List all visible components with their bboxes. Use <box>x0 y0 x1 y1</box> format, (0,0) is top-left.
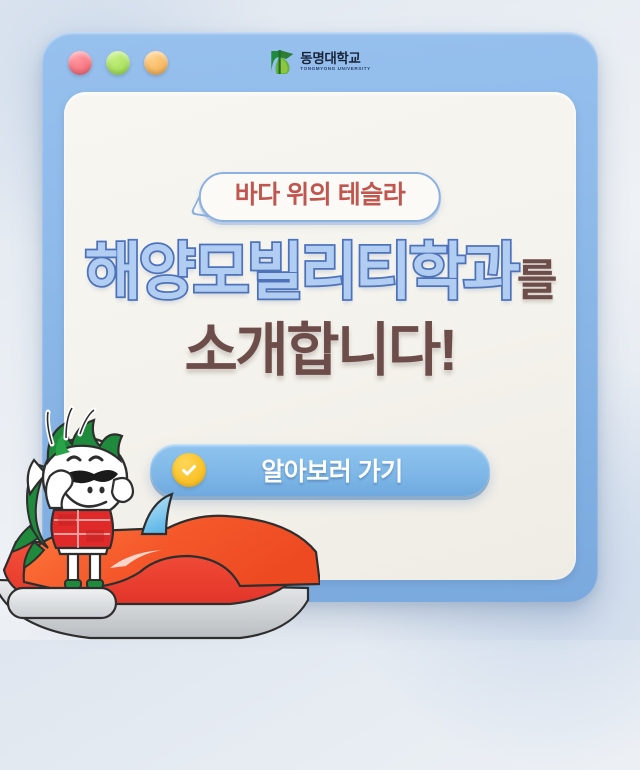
logo-english-name: TONGMYONG UNIVERSITY <box>300 67 370 72</box>
headline-line-1: 해양모빌리티학과를 <box>64 242 576 304</box>
content-card: 바다 위의 테슬라 해양모빌리티학과를 소개합니다! 알아보러 가기 <box>64 92 576 580</box>
tagline-badge: 바다 위의 테슬라 <box>199 172 441 222</box>
minimize-button[interactable] <box>106 51 130 75</box>
window-titlebar: 동명대학교 TONGMYONG UNIVERSITY <box>42 32 598 94</box>
maximize-button[interactable] <box>144 51 168 75</box>
logo-korean-name: 동명대학교 <box>300 52 370 66</box>
headline-line-2: 소개합니다! <box>64 322 576 380</box>
university-emblem-icon <box>269 48 295 76</box>
headline-particle: 를 <box>517 256 555 305</box>
tagline-text: 바다 위의 테슬라 <box>235 182 405 210</box>
browser-window: 동명대학교 TONGMYONG UNIVERSITY 바다 위의 테슬라 해양모… <box>42 32 598 602</box>
headline-block: 해양모빌리티학과를 소개합니다! <box>64 242 576 380</box>
logo-text-block: 동명대학교 TONGMYONG UNIVERSITY <box>300 52 370 72</box>
headline-department-name: 해양모빌리티학과 <box>85 238 517 307</box>
close-button[interactable] <box>68 51 92 75</box>
learn-more-button-label: 알아보러 가기 <box>196 452 468 488</box>
university-logo: 동명대학교 TONGMYONG UNIVERSITY <box>269 48 370 76</box>
traffic-light-buttons <box>68 51 168 75</box>
tagline-badge-wrapper: 바다 위의 테슬라 <box>199 172 441 222</box>
speech-bubble-tail-icon <box>189 194 220 217</box>
learn-more-button[interactable]: 알아보러 가기 <box>150 444 490 496</box>
